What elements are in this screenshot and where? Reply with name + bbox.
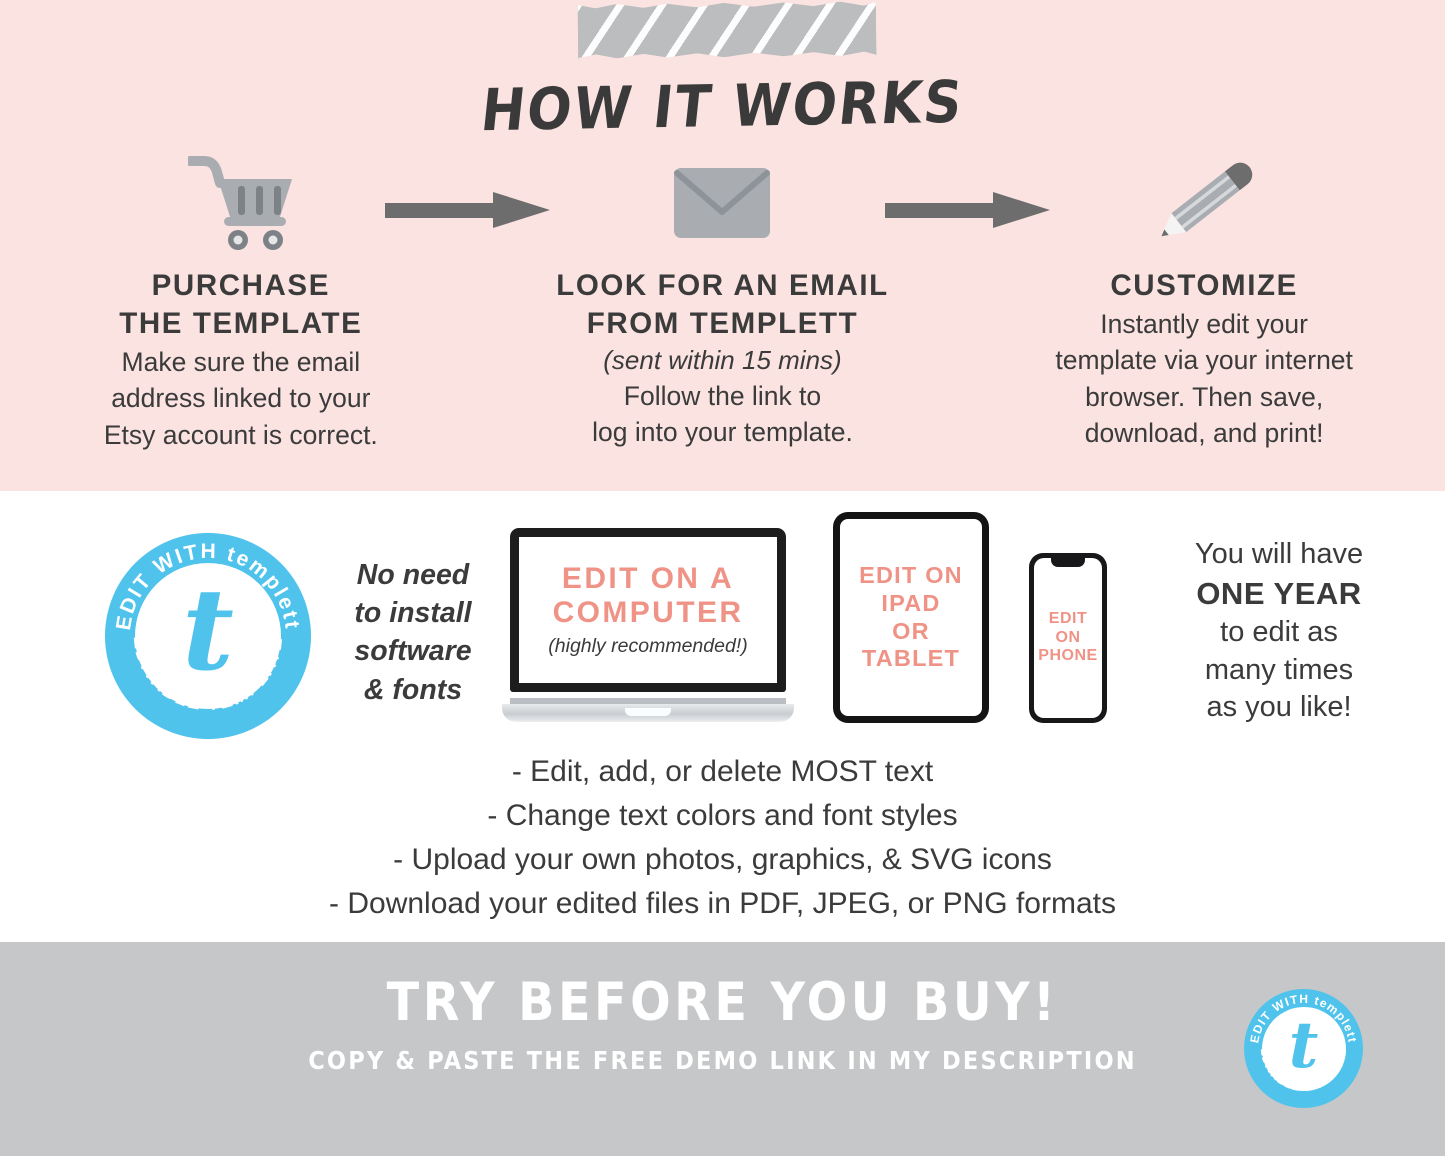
svg-text:EDIT WITH templett: EDIT WITH templett xyxy=(1247,992,1359,1044)
step-body-line1: Follow the link to xyxy=(482,378,964,415)
templett-badge-text-small: EDIT WITH templett EDITABLE TEMPLATE xyxy=(1244,989,1363,1108)
laptop-mockup: EDIT ON A COMPUTER (highly recommended!) xyxy=(502,528,794,724)
step-body-line3: browser. Then save, xyxy=(963,379,1445,416)
infographic-page: HOW IT WORKS PUR xyxy=(0,0,1445,1156)
step-body-line1: Instantly edit your xyxy=(963,306,1445,343)
arrow-right-icon-2 xyxy=(885,192,1050,228)
tablet-text-line4: TABLET xyxy=(862,645,960,673)
tablet-text-line1: EDIT ON xyxy=(859,562,963,590)
phone-notch-icon xyxy=(1051,558,1085,567)
step-italic-note: (sent within 15 mins) xyxy=(482,343,964,377)
step-title-line2: THE TEMPLATE xyxy=(0,305,482,343)
step-title-line1: CUSTOMIZE xyxy=(963,267,1445,305)
templett-badge-large: EDIT WITH templett EDITABLE TEMPLATE t xyxy=(105,533,311,739)
no-install-text: No need to install software & fonts xyxy=(333,556,493,709)
arrow-head xyxy=(493,192,550,228)
step-body-line2: log into your template. xyxy=(482,414,964,451)
step-title-line1: PURCHASE xyxy=(0,267,482,305)
one-year-highlight: ONE YEAR xyxy=(1124,574,1434,614)
step-title: PURCHASE THE TEMPLATE xyxy=(0,267,482,343)
laptop-screen: EDIT ON A COMPUTER (highly recommended!) xyxy=(519,537,777,683)
arrow-shaft xyxy=(885,203,1000,218)
tablet-text-line2: IPAD xyxy=(881,590,940,618)
laptop-text-note: (highly recommended!) xyxy=(548,635,747,658)
phone-text-line3: PHONE xyxy=(1038,647,1097,666)
no-install-line3: software xyxy=(333,632,493,670)
list-item: - Edit, add, or delete MOST text xyxy=(0,750,1445,794)
arrow-head xyxy=(993,192,1050,228)
phone-text-line2: ON xyxy=(1056,629,1081,648)
no-install-line1: No need xyxy=(333,556,493,594)
step-body: Make sure the email address linked to yo… xyxy=(0,344,482,454)
footer-subtitle: COPY & PASTE THE FREE DEMO LINK IN MY DE… xyxy=(0,1046,1445,1075)
one-year-line3: to edit as xyxy=(1124,614,1434,652)
step-body: Instantly edit your template via your in… xyxy=(963,306,1445,452)
footer-title: TRY BEFORE YOU BUY! xyxy=(0,972,1445,1033)
no-install-line2: to install xyxy=(333,594,493,632)
phone-mockup: EDIT ON PHONE xyxy=(1029,553,1107,723)
templett-badge-small: EDIT WITH templett EDITABLE TEMPLATE t xyxy=(1244,989,1363,1108)
svg-text:EDITABLE TEMPLATE: EDITABLE TEMPLATE xyxy=(129,635,288,715)
list-item: - Change text colors and font styles xyxy=(0,794,1445,838)
one-year-line4: many times xyxy=(1124,652,1434,690)
step-title: CUSTOMIZE xyxy=(963,267,1445,305)
page-title: HOW IT WORKS xyxy=(0,59,1445,152)
washi-tape-icon xyxy=(578,1,877,58)
step-title-line2: FROM TEMPLETT xyxy=(482,305,964,343)
laptop-base xyxy=(502,704,794,722)
one-year-text: You will have ONE YEAR to edit as many t… xyxy=(1124,536,1434,727)
svg-text:EDITABLE TEMPLATE: EDITABLE TEMPLATE xyxy=(1258,1048,1349,1094)
list-item: - Upload your own photos, graphics, & SV… xyxy=(0,838,1445,882)
tablet-screen: EDIT ON IPAD OR TABLET xyxy=(840,519,982,716)
arrow-right-icon-1 xyxy=(385,192,550,228)
step-body-line1: Make sure the email xyxy=(0,344,482,381)
steps-row: PURCHASE THE TEMPLATE Make sure the emai… xyxy=(0,150,1445,453)
phone-text-line1: EDIT xyxy=(1049,610,1087,629)
svg-text:EDIT WITH templett: EDIT WITH templett xyxy=(112,540,304,632)
feature-list: - Edit, add, or delete MOST text - Chang… xyxy=(0,750,1445,926)
try-before-buy-section: TRY BEFORE YOU BUY! COPY & PASTE THE FRE… xyxy=(0,942,1445,1156)
step-title: LOOK FOR AN EMAIL FROM TEMPLETT xyxy=(482,267,964,343)
one-year-line1: You will have xyxy=(1124,536,1434,574)
laptop-text-line2: COMPUTER xyxy=(553,596,744,630)
step-body-line4: download, and print! xyxy=(963,415,1445,452)
laptop-lid: EDIT ON A COMPUTER (highly recommended!) xyxy=(510,528,786,692)
phone-screen: EDIT ON PHONE xyxy=(1034,558,1102,718)
step-title-line1: LOOK FOR AN EMAIL xyxy=(482,267,964,305)
tablet-text-line3: OR xyxy=(892,618,930,646)
step-body: Follow the link to log into your templat… xyxy=(482,378,964,451)
step-body-line2: template via your internet xyxy=(963,342,1445,379)
how-it-works-section: HOW IT WORKS PUR xyxy=(0,0,1445,491)
step-body-line3: Etsy account is correct. xyxy=(0,417,482,454)
arrow-shaft xyxy=(385,203,500,218)
one-year-line5: as you like! xyxy=(1124,689,1434,727)
list-item: - Download your edited files in PDF, JPE… xyxy=(0,882,1445,926)
laptop-text-line1: EDIT ON A xyxy=(562,562,734,596)
tablet-mockup: EDIT ON IPAD OR TABLET xyxy=(833,512,989,723)
templett-badge-text: EDIT WITH templett EDITABLE TEMPLATE xyxy=(105,533,311,739)
no-install-line4: & fonts xyxy=(333,671,493,709)
step-body-line2: address linked to your xyxy=(0,380,482,417)
